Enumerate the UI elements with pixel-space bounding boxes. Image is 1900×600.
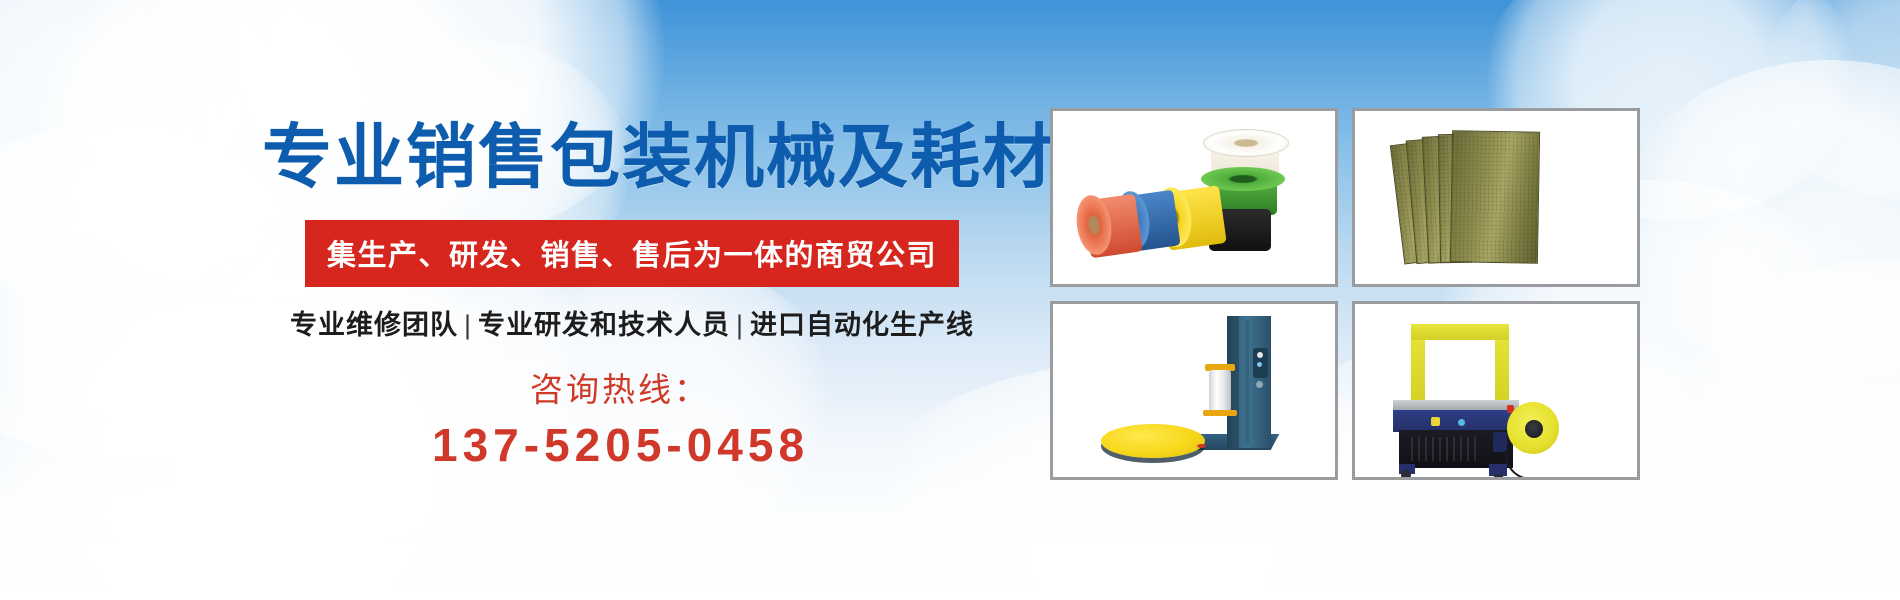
sack-front [1450, 130, 1540, 264]
wrapper-brand-mark [1197, 444, 1206, 448]
wrapper-stretch-film-roll [1209, 370, 1231, 412]
product-tile-woven-sacks[interactable] [1352, 108, 1640, 287]
company-tagline-badge: 集生产、研发、销售、售后为一体的商贸公司 [305, 220, 959, 287]
machine-power-cable [1505, 450, 1551, 480]
promotional-banner: 专业销售包装机械及耗材 集生产、研发、销售、售后为一体的商贸公司 专业维修团队|… [0, 0, 1900, 600]
feature-separator: | [730, 310, 750, 340]
product-image-grid [1050, 108, 1640, 480]
machine-arch-top [1411, 324, 1509, 340]
machine-body-upper [1393, 410, 1519, 432]
wrapper-indicator-light [1256, 381, 1263, 388]
machine-warning-label [1431, 417, 1440, 426]
wrapper-film-clamp-bottom [1203, 410, 1237, 416]
wrapper-column-groove [1245, 320, 1249, 444]
machine-caster-right [1493, 474, 1504, 480]
machine-vent-grille [1411, 437, 1481, 461]
product-tile-strapping-machine[interactable] [1352, 301, 1640, 480]
machine-control-pad [1493, 432, 1507, 452]
wrapper-turntable [1101, 424, 1205, 458]
machine-reel-hub [1525, 420, 1543, 438]
wrapper-indicator-light [1257, 352, 1263, 358]
woven-sacks-image [1355, 111, 1637, 284]
hotline-phone-number[interactable]: 137-5205-0458 [432, 418, 809, 472]
product-tile-stretch-wrapper[interactable] [1050, 301, 1338, 480]
strapping-machine-image [1355, 304, 1637, 477]
feature-list: 专业维修团队|专业研发和技术人员|进口自动化生产线 [290, 303, 974, 342]
stretch-wrapper-image [1053, 304, 1335, 477]
machine-power-button [1458, 419, 1465, 426]
product-tile-strapping-rolls[interactable] [1050, 108, 1338, 287]
feature-item-2: 专业研发和技术人员 [478, 310, 730, 340]
wrapper-indicator-light [1257, 362, 1262, 367]
feature-separator: | [458, 310, 478, 340]
strapping-rolls-image [1053, 111, 1335, 284]
hotline-label: 咨询热线： [530, 363, 710, 411]
feature-item-1: 专业维修团队 [290, 310, 458, 340]
machine-caster-left [1401, 470, 1411, 480]
banner-headline: 专业销售包装机械及耗材 [262, 118, 1054, 196]
banner-text-column: 专业销售包装机械及耗材 集生产、研发、销售、售后为一体的商贸公司 专业维修团队|… [0, 0, 1040, 600]
roll-white-face [1203, 129, 1289, 157]
feature-item-3: 进口自动化生产线 [750, 310, 974, 340]
